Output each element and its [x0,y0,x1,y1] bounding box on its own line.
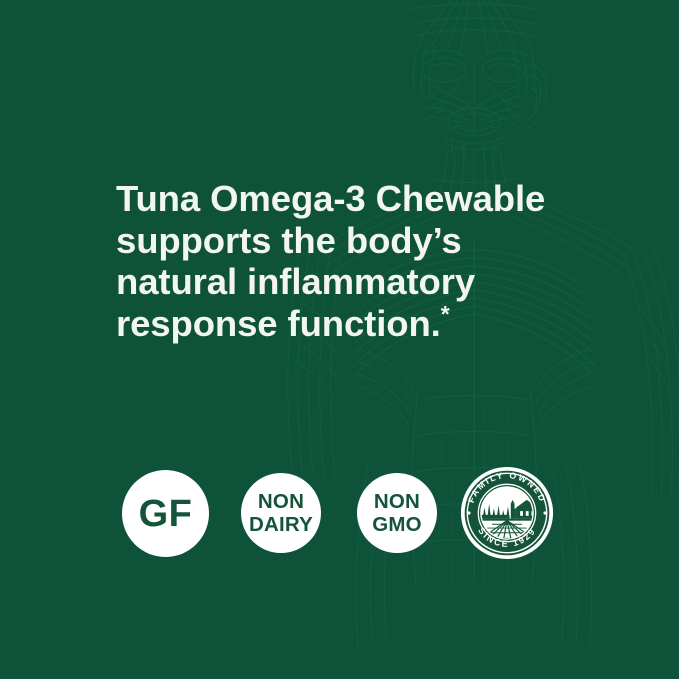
badge-gluten-free-label: GF [139,495,193,533]
certification-badge-row: GF NON DAIRY NON GMO [0,0,679,679]
family-owned-seal: FAMILY OWNED SINCE 1929 [460,466,554,560]
badge-non-gmo: NON GMO [357,473,437,553]
product-feature-banner: Tuna Omega-3 Chewable supports the body’… [0,0,679,679]
badge-non-dairy-label: NON DAIRY [249,490,313,537]
badge-non-gmo-label: NON GMO [372,490,422,537]
badge-non-dairy: NON DAIRY [241,473,321,553]
badge-gluten-free: GF [122,470,209,557]
seal-dot-right [543,511,546,514]
seal-dot-left [467,511,470,514]
